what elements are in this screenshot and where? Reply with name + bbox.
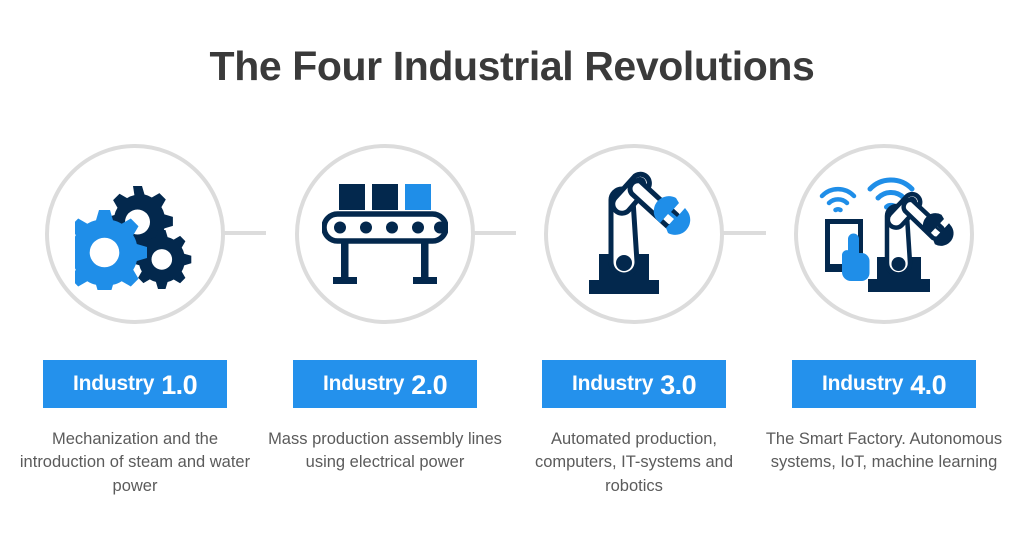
- badge-number-4: 4.0: [910, 370, 946, 401]
- smart-factory-icon: [811, 169, 957, 299]
- robotic-arm-icon: [575, 170, 693, 298]
- badge-number-3: 3.0: [660, 370, 696, 401]
- caption-industry-2: Mass production assembly lines using ele…: [260, 428, 510, 475]
- caption-industry-3: Automated production, computers, IT-syst…: [509, 428, 759, 498]
- badge-number-2: 2.0: [411, 370, 447, 401]
- badge-word-2: Industry: [323, 372, 404, 396]
- badge-word-3: Industry: [572, 372, 653, 396]
- icon-circle-4: [794, 144, 974, 324]
- icon-circle-3: [544, 144, 724, 324]
- caption-industry-4: The Smart Factory. Autonomous systems, I…: [759, 428, 1009, 475]
- stage-industry-4: Industry 4.0 The Smart Factory. Autonomo…: [759, 0, 1009, 538]
- stage-industry-1: Industry 1.0 Mechanization and the intro…: [10, 0, 260, 538]
- icon-circle-2: [295, 144, 475, 324]
- badge-industry-4[interactable]: Industry 4.0: [792, 360, 976, 408]
- badge-industry-3[interactable]: Industry 3.0: [542, 360, 726, 408]
- icon-circle-1: [45, 144, 225, 324]
- badge-industry-1[interactable]: Industry 1.0: [43, 360, 227, 408]
- badge-number-1: 1.0: [161, 370, 197, 401]
- stage-industry-2: Industry 2.0 Mass production assembly li…: [260, 0, 510, 538]
- gears-icon: [75, 178, 195, 290]
- caption-industry-1: Mechanization and the introduction of st…: [10, 428, 260, 498]
- badge-industry-2[interactable]: Industry 2.0: [293, 360, 477, 408]
- wifi-small: [822, 189, 854, 210]
- badge-word-1: Industry: [73, 372, 154, 396]
- conveyor-belt-icon: [322, 178, 448, 290]
- stage-industry-3: Industry 3.0 Automated production, compu…: [509, 0, 759, 538]
- badge-word-4: Industry: [822, 372, 903, 396]
